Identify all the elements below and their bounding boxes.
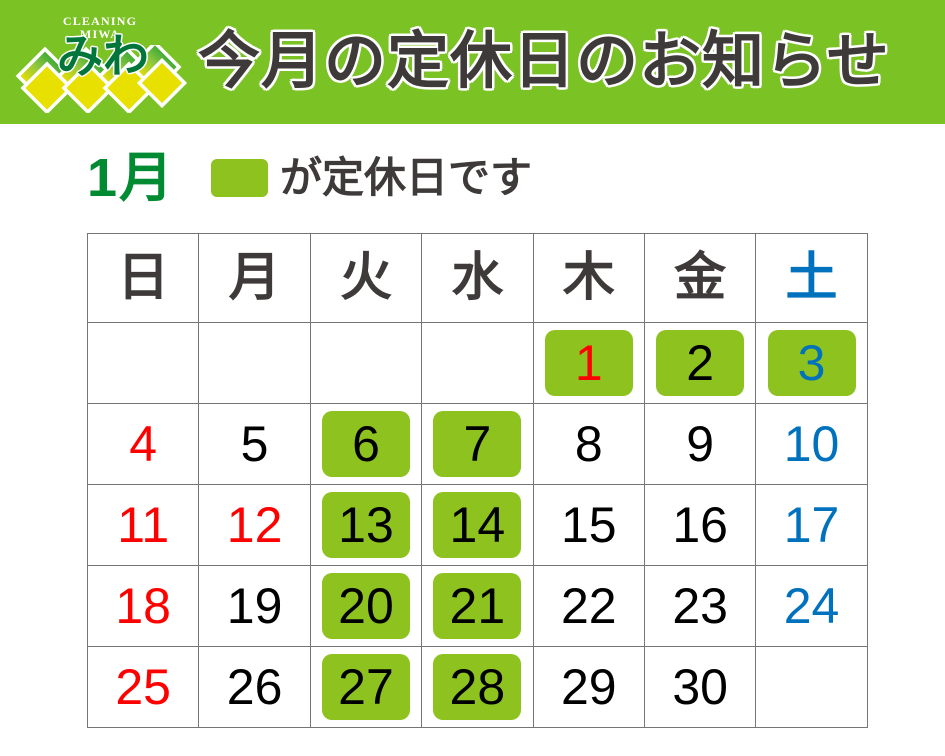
day-number-closed: 3 (768, 330, 856, 396)
day-number: 26 (211, 654, 299, 720)
day-cell-inner: 28 (422, 647, 532, 727)
day-cell-inner: 7 (422, 404, 532, 484)
day-number: 10 (768, 411, 856, 477)
day-number: 18 (99, 573, 187, 639)
day-cell-inner: 19 (199, 566, 309, 646)
weekday-header-thursday: 木 (533, 234, 644, 323)
day-cell-inner: 27 (311, 647, 421, 727)
weekday-header-saturday: 土 (756, 234, 867, 323)
day-cell-inner: 26 (199, 647, 309, 727)
weekday-header-wednesday: 水 (422, 234, 533, 323)
company-logo: CLEANING MIWA みわ (8, 7, 188, 117)
day-number-closed: 27 (322, 654, 410, 720)
calendar-day-cell: 30 (644, 647, 755, 728)
month-label: 1月 (87, 151, 175, 205)
day-cell-inner (88, 323, 198, 403)
calendar-table: 日 月 火 水 木 金 土 12345678910111213141516171… (87, 233, 868, 728)
weekday-header-tuesday: 火 (310, 234, 421, 323)
day-number: 11 (99, 492, 187, 558)
day-number: 8 (545, 411, 633, 477)
day-number: 4 (99, 411, 187, 477)
calendar-day-cell (310, 323, 421, 404)
calendar-day-cell: 24 (756, 566, 867, 647)
day-number-closed: 21 (433, 573, 521, 639)
calendar-day-cell: 12 (199, 485, 310, 566)
calendar-week-row: 45678910 (88, 404, 868, 485)
day-number: 5 (211, 411, 299, 477)
calendar-day-cell: 4 (88, 404, 199, 485)
calendar-day-cell: 28 (422, 647, 533, 728)
day-cell-inner: 23 (645, 566, 755, 646)
day-cell-inner: 24 (756, 566, 866, 646)
calendar-week-row: 18192021222324 (88, 566, 868, 647)
calendar-day-cell: 16 (644, 485, 755, 566)
day-number: 30 (656, 654, 744, 720)
day-number-closed: 20 (322, 573, 410, 639)
calendar-day-cell: 7 (422, 404, 533, 485)
day-cell-inner (422, 323, 532, 403)
calendar-day-cell: 13 (310, 485, 421, 566)
page-title: 今月の定休日のお知らせ (198, 31, 945, 93)
day-number-closed: 7 (433, 411, 521, 477)
day-number: 22 (545, 573, 633, 639)
day-cell-inner: 2 (645, 323, 755, 403)
day-number-closed: 13 (322, 492, 410, 558)
logo-cleaning-text: CLEANING (41, 15, 159, 27)
calendar-day-cell: 21 (422, 566, 533, 647)
calendar-week-row: 123 (88, 323, 868, 404)
legend-description: が定休日です (280, 157, 532, 199)
day-number-closed: 28 (433, 654, 521, 720)
calendar-day-cell: 15 (533, 485, 644, 566)
day-number: 17 (768, 492, 856, 558)
closed-day-color-swatch (211, 159, 268, 197)
calendar-day-cell: 2 (644, 323, 755, 404)
day-cell-inner: 13 (311, 485, 421, 565)
day-number: 25 (99, 654, 187, 720)
day-cell-inner: 11 (88, 485, 198, 565)
calendar-day-cell (88, 323, 199, 404)
day-cell-inner: 8 (534, 404, 644, 484)
calendar-day-cell: 23 (644, 566, 755, 647)
day-number-closed: 2 (656, 330, 744, 396)
calendar-day-cell (756, 647, 867, 728)
weekday-header-friday: 金 (644, 234, 755, 323)
day-cell-inner (311, 323, 421, 403)
header-banner: CLEANING MIWA みわ 今月の定休日のお知らせ (0, 0, 945, 124)
calendar-day-cell: 9 (644, 404, 755, 485)
day-number: 29 (545, 654, 633, 720)
calendar-week-row: 252627282930 (88, 647, 868, 728)
day-cell-inner: 22 (534, 566, 644, 646)
day-number: 16 (656, 492, 744, 558)
day-cell-inner: 3 (756, 323, 866, 403)
calendar-day-cell (199, 323, 310, 404)
day-cell-inner: 25 (88, 647, 198, 727)
day-number: 19 (211, 573, 299, 639)
day-cell-inner: 17 (756, 485, 866, 565)
day-number: 24 (768, 573, 856, 639)
legend-row: 1月 が定休日です (87, 142, 532, 214)
calendar-day-cell: 14 (422, 485, 533, 566)
day-number: 9 (656, 411, 744, 477)
day-cell-inner: 21 (422, 566, 532, 646)
calendar-day-cell (422, 323, 533, 404)
calendar-day-cell: 1 (533, 323, 644, 404)
weekday-header-monday: 月 (199, 234, 310, 323)
day-cell-inner (756, 647, 866, 727)
day-cell-inner: 12 (199, 485, 309, 565)
day-cell-inner: 9 (645, 404, 755, 484)
calendar-day-cell: 3 (756, 323, 867, 404)
day-number-closed: 6 (322, 411, 410, 477)
day-cell-inner: 16 (645, 485, 755, 565)
day-cell-inner: 29 (534, 647, 644, 727)
day-number: 23 (656, 573, 744, 639)
day-number-closed: 1 (545, 330, 633, 396)
day-cell-inner: 4 (88, 404, 198, 484)
day-cell-inner: 30 (645, 647, 755, 727)
day-cell-inner: 6 (311, 404, 421, 484)
calendar-day-cell: 18 (88, 566, 199, 647)
calendar-day-cell: 8 (533, 404, 644, 485)
day-cell-inner: 14 (422, 485, 532, 565)
calendar-day-cell: 27 (310, 647, 421, 728)
day-number: 15 (545, 492, 633, 558)
day-number-closed: 14 (433, 492, 521, 558)
day-number: 12 (211, 492, 299, 558)
day-cell-inner: 1 (534, 323, 644, 403)
calendar-day-cell: 11 (88, 485, 199, 566)
day-cell-inner: 10 (756, 404, 866, 484)
logo-kana-text: みわ (28, 33, 178, 79)
calendar-body: 1234567891011121314151617181920212223242… (88, 323, 868, 728)
calendar-day-cell: 10 (756, 404, 867, 485)
calendar-week-row: 11121314151617 (88, 485, 868, 566)
calendar-header-row: 日 月 火 水 木 金 土 (88, 234, 868, 323)
calendar-day-cell: 26 (199, 647, 310, 728)
calendar-day-cell: 19 (199, 566, 310, 647)
calendar-day-cell: 22 (533, 566, 644, 647)
calendar-day-cell: 5 (199, 404, 310, 485)
calendar-day-cell: 20 (310, 566, 421, 647)
day-cell-inner: 15 (534, 485, 644, 565)
logo-wordmark: CLEANING MIWA みわ (8, 7, 188, 117)
calendar-day-cell: 29 (533, 647, 644, 728)
day-cell-inner (199, 323, 309, 403)
day-cell-inner: 18 (88, 566, 198, 646)
day-cell-inner: 5 (199, 404, 309, 484)
calendar-day-cell: 17 (756, 485, 867, 566)
calendar-day-cell: 6 (310, 404, 421, 485)
day-cell-inner: 20 (311, 566, 421, 646)
calendar-day-cell: 25 (88, 647, 199, 728)
weekday-header-sunday: 日 (88, 234, 199, 323)
